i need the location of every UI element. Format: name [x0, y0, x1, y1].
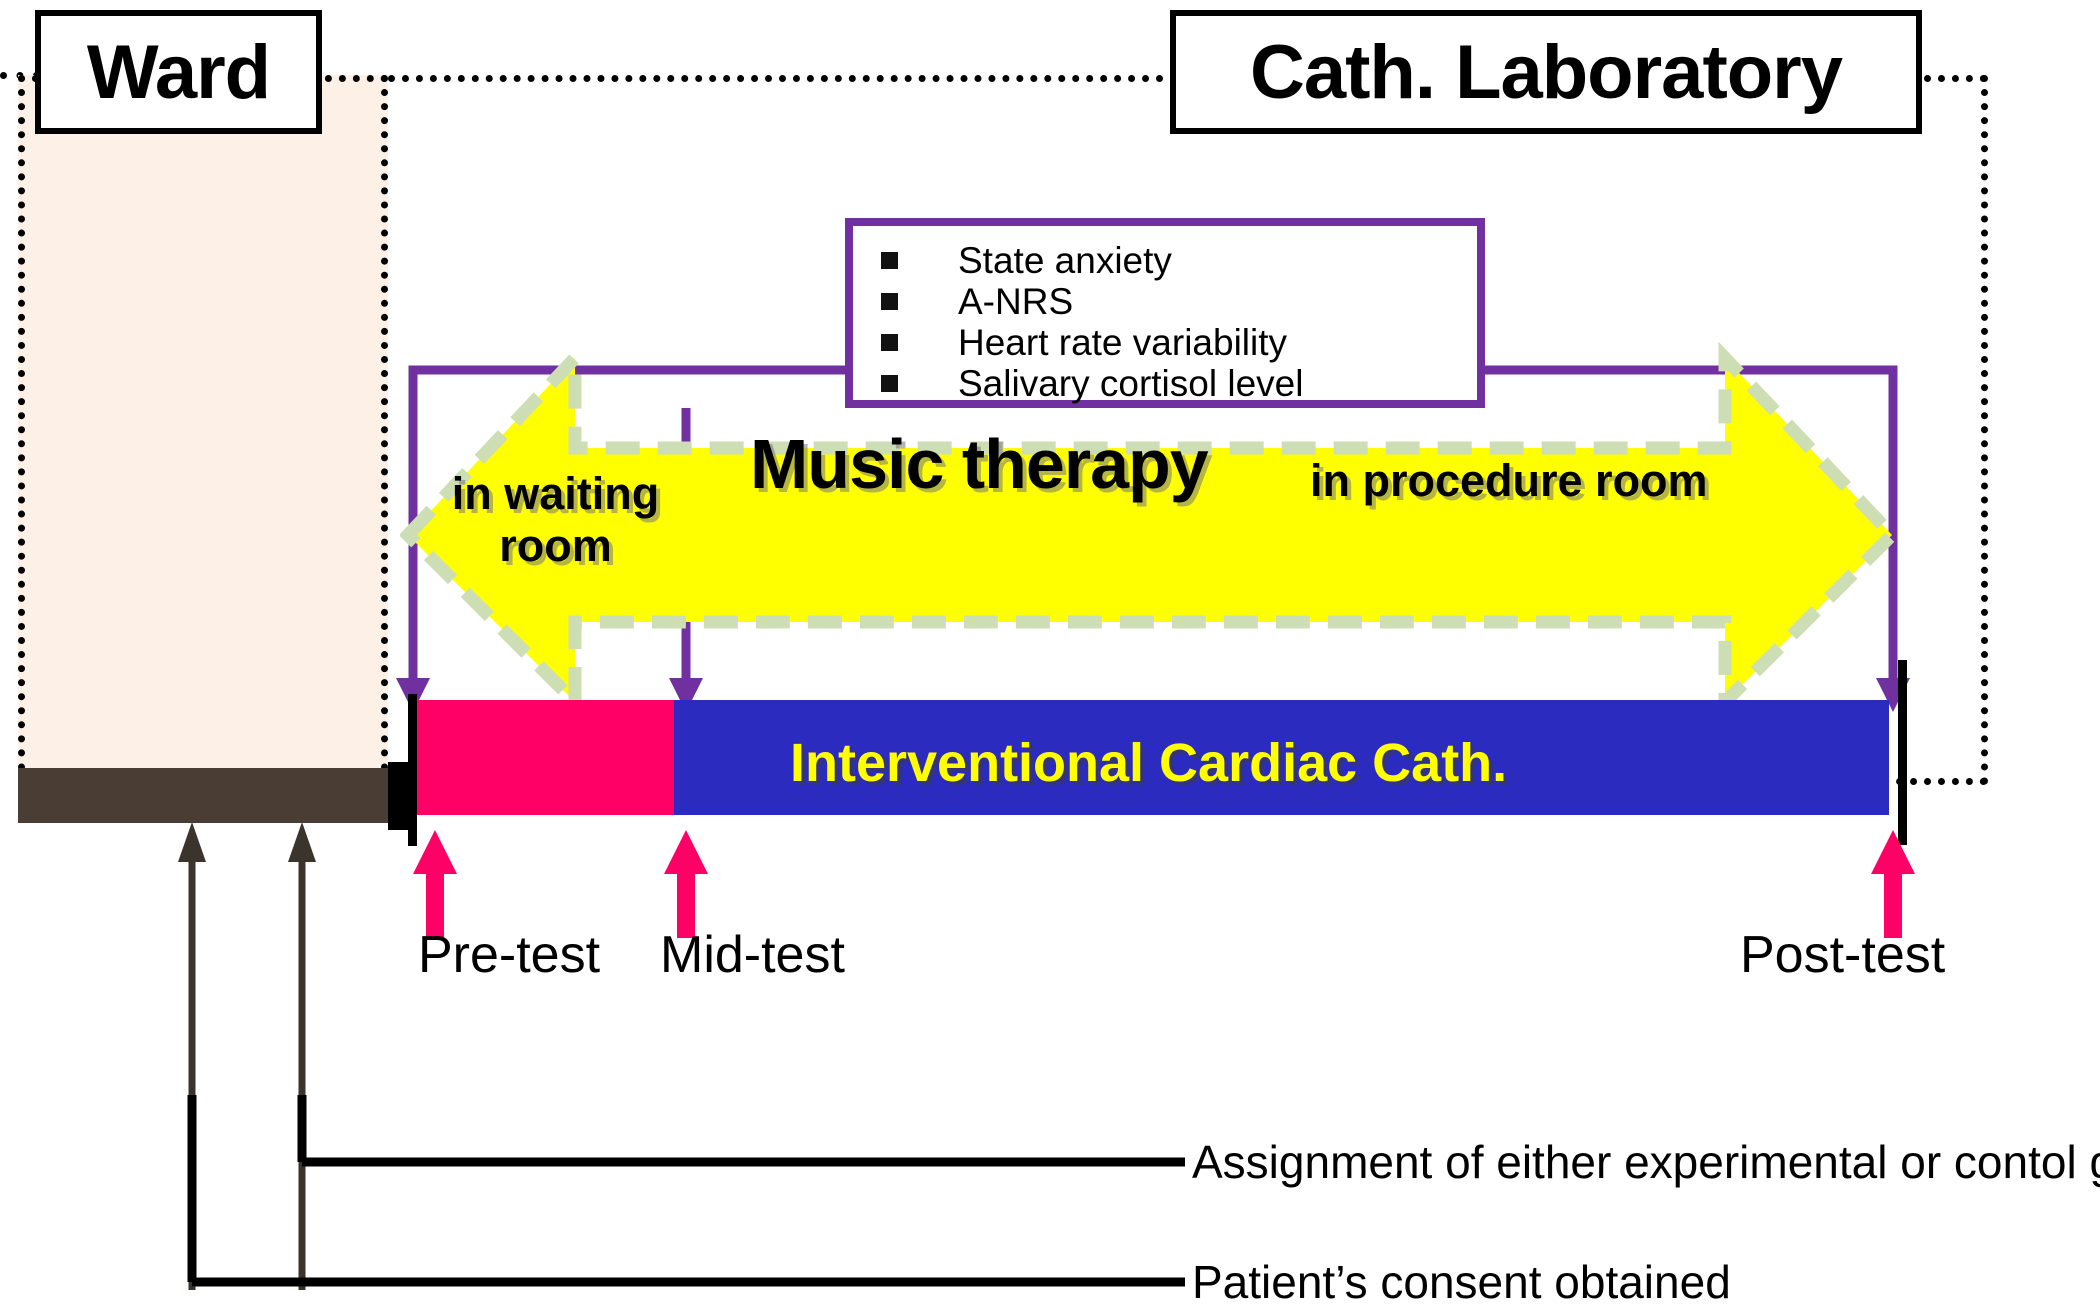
assignment-annotation-label: Assignment of either experimental or con…: [1192, 1135, 2100, 1189]
assignment-arrowhead: [288, 822, 316, 862]
bottom-elbow-connectors: [0, 0, 2100, 1302]
consent-arrowhead: [178, 822, 206, 862]
consent-annotation-label: Patient’s consent obtained: [1192, 1255, 1731, 1309]
